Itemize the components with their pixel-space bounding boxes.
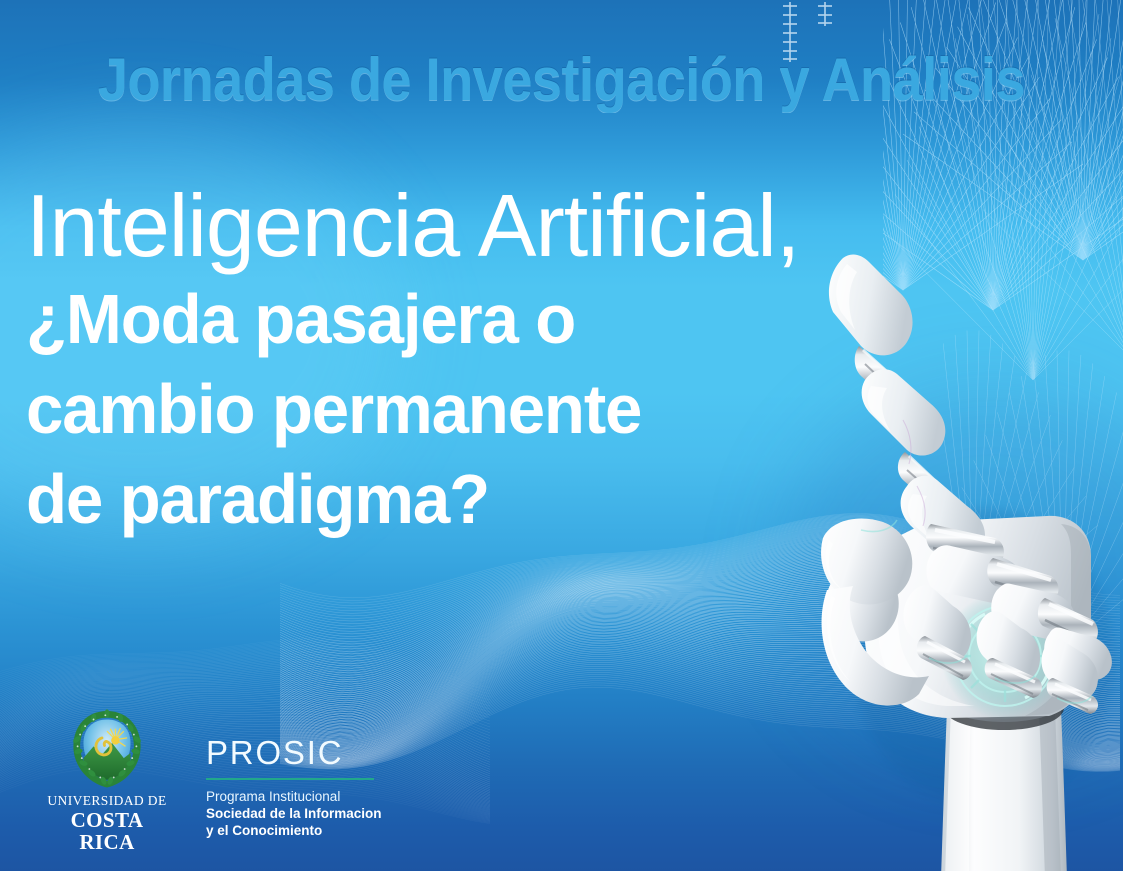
slide-kicker: Jornadas de Investigación y Análisis	[56, 50, 1067, 110]
prosic-subtitle-line-1: Programa Institucional	[206, 788, 382, 805]
presentation-slide: Jornadas de Investigación y Análisis	[0, 0, 1123, 871]
wave-mesh-icon	[280, 501, 1120, 801]
prosic-wordmark: PROSIC	[206, 736, 382, 769]
ucr-name-line-2: COSTA RICA	[46, 809, 168, 854]
ucr-logo: UNIVERSIDAD DE COSTA RICA	[46, 706, 168, 853]
ucr-logo-name: UNIVERSIDAD DE COSTA RICA	[46, 794, 168, 853]
radiating-line-fan-secondary-icon	[943, 330, 1123, 660]
prosic-subtitle-line-3: y el Conocimiento	[206, 822, 382, 839]
ucr-name-line-1: UNIVERSIDAD DE	[46, 794, 168, 808]
prosic-divider	[206, 778, 374, 781]
prosic-subtitle-line-2: Sociedad de la Informacion	[206, 805, 382, 822]
title-line-4: de paradigma?	[26, 454, 823, 544]
prosic-subtitle: Programa Institucional Sociedad de la In…	[206, 788, 382, 839]
slide-title-block: Inteligencia Artificial, ¿Moda pasajera …	[26, 178, 856, 544]
ucr-seal-icon	[65, 706, 149, 790]
title-line-3: cambio permanente	[26, 364, 823, 454]
slide-footer: UNIVERSIDAD DE COSTA RICA PROSIC Program…	[46, 733, 382, 853]
title-line-2: ¿Moda pasajera o	[26, 274, 823, 364]
prosic-logo: PROSIC Programa Institucional Sociedad d…	[206, 736, 382, 854]
title-line-1: Inteligencia Artificial,	[26, 178, 856, 274]
